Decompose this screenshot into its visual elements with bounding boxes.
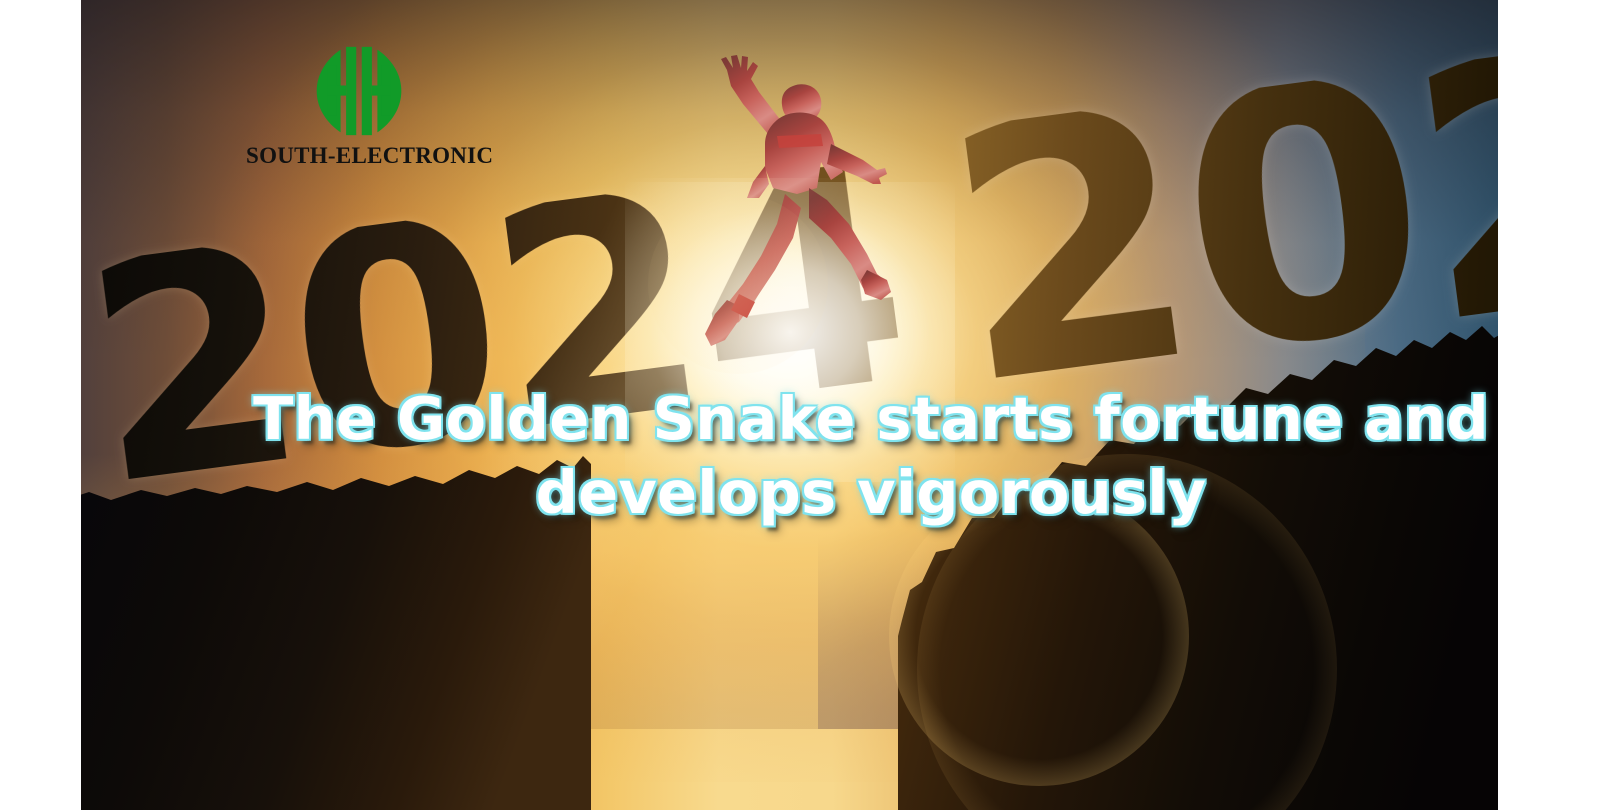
headline-line-1: The Golden Snake starts fortune and	[201, 382, 1498, 456]
hh-monogram-circle-icon	[313, 45, 405, 137]
headline-line-2: develops vigorously	[201, 456, 1498, 530]
headline: The Golden Snake starts fortune and deve…	[201, 382, 1498, 530]
brand-logo[interactable]: SOUTH-ELECTRONIC	[246, 45, 471, 169]
company-name: SOUTH-ELECTRONIC	[246, 143, 471, 169]
banner-root: 2024 2025	[0, 0, 1600, 810]
banner-photo: 2024 2025	[81, 0, 1498, 810]
